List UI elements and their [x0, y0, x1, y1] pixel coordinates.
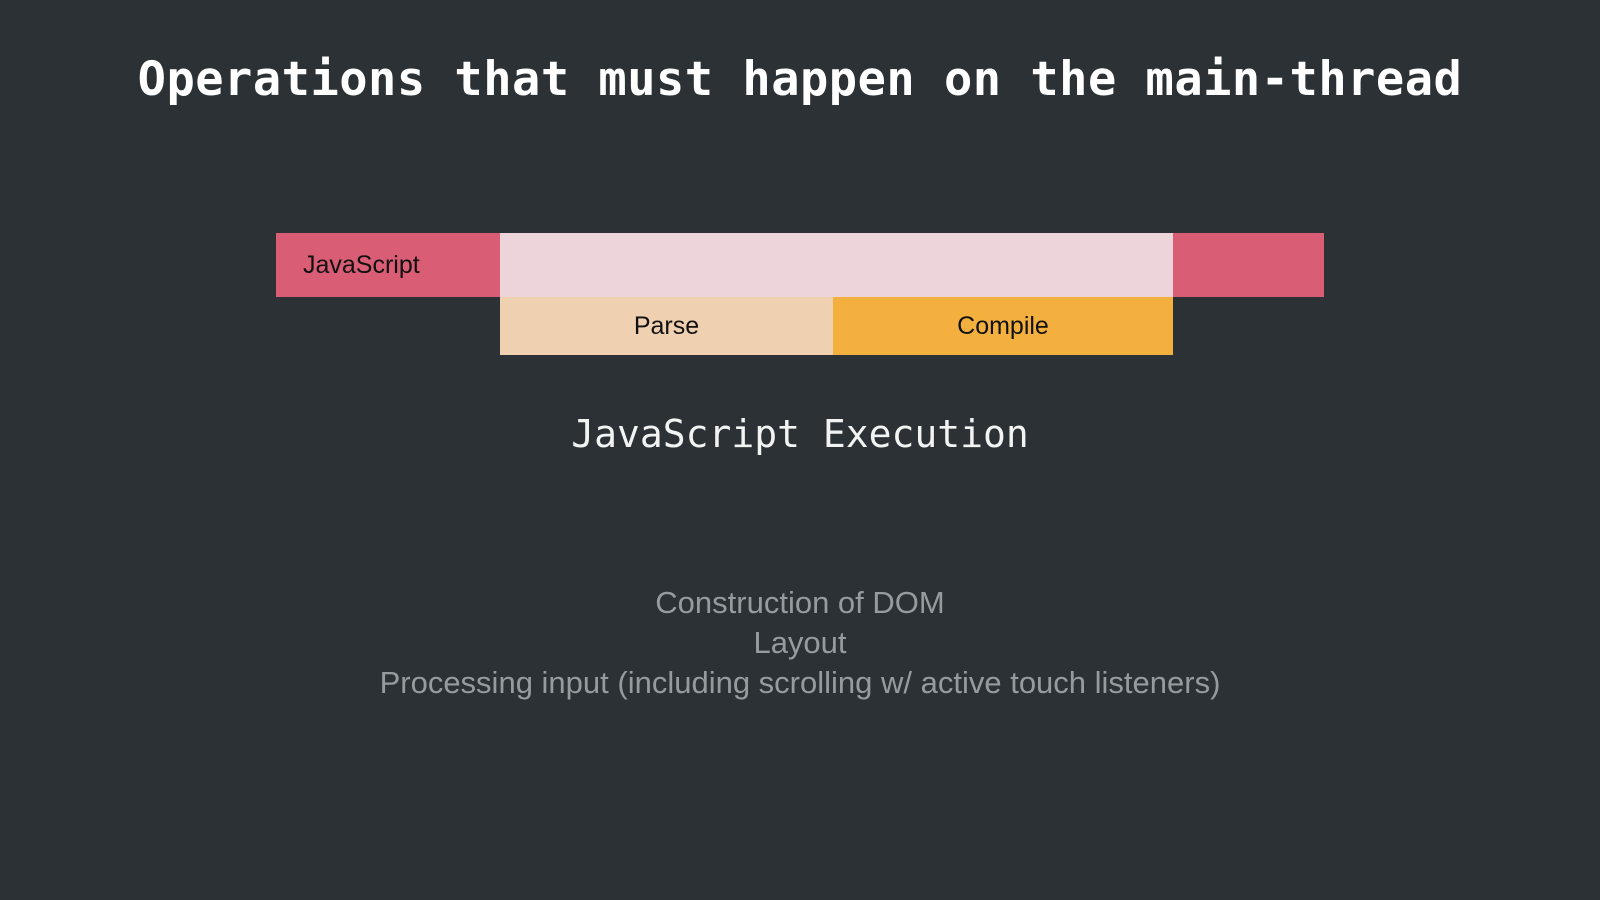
- bar-segment-javascript-label: JavaScript: [303, 253, 420, 278]
- slide-canvas: Operations that must happen on the main-…: [0, 0, 1600, 900]
- javascript-execution-chart: JavaScript Parse Compile: [276, 233, 1324, 355]
- bar-segment-parse-label: Parse: [634, 314, 699, 339]
- main-thread-operations-list: Construction of DOM Layout Processing in…: [0, 583, 1600, 703]
- bar-segment-javascript: JavaScript: [276, 233, 500, 297]
- list-item: Processing input (including scrolling w/…: [0, 663, 1600, 703]
- bar-segment-javascript-tail: [1173, 233, 1324, 297]
- bar-segment-compile-label: Compile: [957, 314, 1049, 339]
- chart-caption: JavaScript Execution: [0, 412, 1600, 456]
- bar-segment-parse: Parse: [500, 297, 833, 355]
- page-title: Operations that must happen on the main-…: [0, 52, 1600, 107]
- bar-segment-javascript-remainder: [500, 233, 1173, 297]
- list-item: Construction of DOM: [0, 583, 1600, 623]
- list-item: Layout: [0, 623, 1600, 663]
- bar-segment-compile: Compile: [833, 297, 1173, 355]
